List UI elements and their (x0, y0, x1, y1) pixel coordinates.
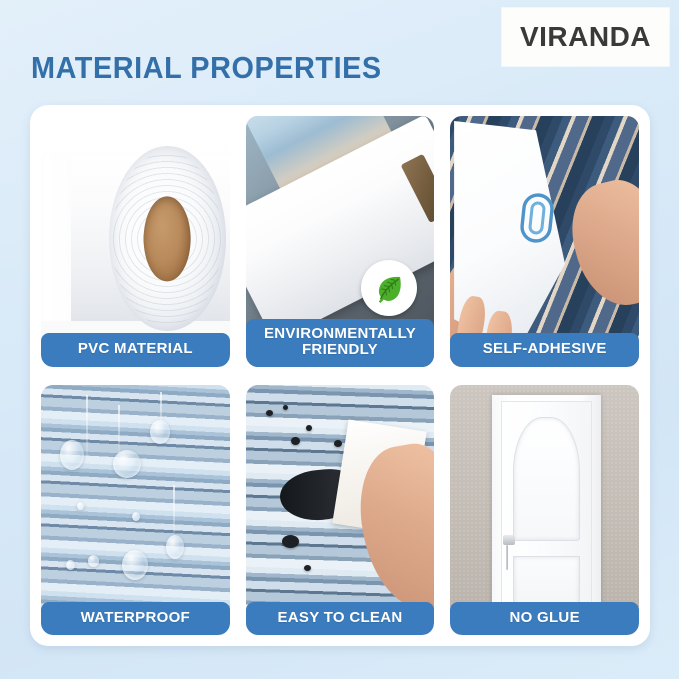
brand-name: VIRANDA (520, 21, 651, 53)
feature-cell-environmentally-friendly[interactable]: ENVIRONMENTALLY FRIENDLY (246, 116, 435, 367)
paperclip-icon (516, 189, 559, 247)
feature-card: PVC MATERIAL (30, 105, 650, 646)
no-glue-photo (450, 385, 639, 636)
feature-grid: PVC MATERIAL (41, 116, 639, 635)
feature-cell-waterproof[interactable]: WATERPROOF (41, 385, 230, 636)
feature-label-waterproof: WATERPROOF (41, 602, 230, 635)
feature-label-pvc-material: PVC MATERIAL (41, 333, 230, 366)
brand-logo-box: VIRANDA (502, 8, 669, 66)
feature-label-no-glue: NO GLUE (450, 602, 639, 635)
feature-cell-self-adhesive[interactable]: SELF-ADHESIVE (450, 116, 639, 367)
easy-to-clean-photo (246, 385, 435, 636)
feature-label-easy-to-clean: EASY TO CLEAN (246, 602, 435, 635)
feature-cell-easy-to-clean[interactable]: EASY TO CLEAN (246, 385, 435, 636)
page-title: MATERIAL PROPERTIES (31, 50, 382, 86)
feature-cell-no-glue[interactable]: NO GLUE (450, 385, 639, 636)
pvc-roll-photo (41, 116, 230, 367)
feature-label-environmentally-friendly: ENVIRONMENTALLY FRIENDLY (246, 319, 435, 366)
waterproof-photo (41, 385, 230, 636)
label-line-2: FRIENDLY (302, 341, 378, 358)
feature-cell-pvc-material[interactable]: PVC MATERIAL (41, 116, 230, 367)
label-line-1: ENVIRONMENTALLY (264, 325, 416, 342)
self-adhesive-photo (450, 116, 639, 367)
feature-label-self-adhesive: SELF-ADHESIVE (450, 333, 639, 366)
